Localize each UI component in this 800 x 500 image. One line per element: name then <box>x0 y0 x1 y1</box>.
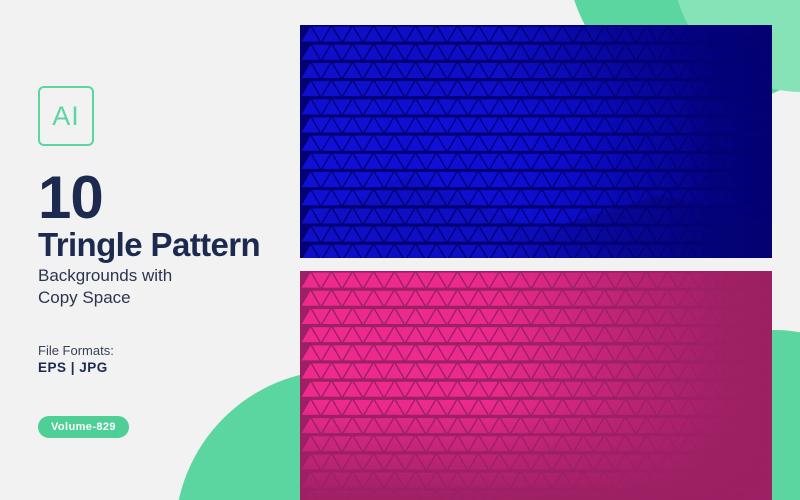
volume-badge: Volume-829 <box>38 416 129 438</box>
info-column: AI 10 Tringle Pattern Backgrounds with C… <box>38 0 303 500</box>
file-formats-value: EPS | JPG <box>38 360 108 375</box>
pink-triangle-pattern-preview[interactable] <box>300 271 772 500</box>
poster-canvas: AI 10 Tringle Pattern Backgrounds with C… <box>0 0 800 500</box>
page-subtitle: Backgrounds with Copy Space <box>38 265 278 309</box>
page-title: Tringle Pattern <box>38 228 260 262</box>
blue-pattern-graphic <box>300 25 772 258</box>
pink-pattern-graphic <box>300 271 772 500</box>
file-formats-label: File Formats: <box>38 343 114 358</box>
adobe-illustrator-badge: AI <box>38 86 94 146</box>
blue-triangle-pattern-preview[interactable] <box>300 25 772 258</box>
pattern-count: 10 <box>38 168 103 228</box>
